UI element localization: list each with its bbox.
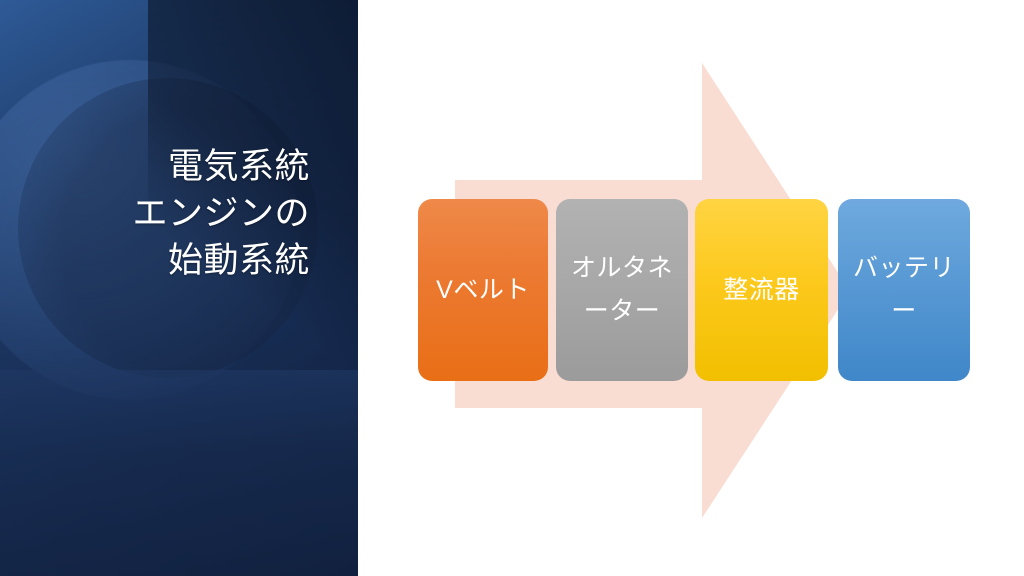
slide-title: 電気系統 エンジンの 始動系統 [50, 143, 310, 284]
stage-box-rectifier[interactable]: 整流器 [695, 199, 828, 381]
stage-box-alternator[interactable]: オルタネーター [556, 199, 688, 381]
stage-label-rectifier: 整流器 [701, 269, 822, 312]
presentation-slide: 電気系統 エンジンの 始動系統 Vベルト オルタネーター 整流器 バッテリー [0, 0, 1024, 576]
title-panel: 電気系統 エンジンの 始動系統 [0, 0, 358, 576]
stage-box-vbelt[interactable]: Vベルト [418, 199, 548, 381]
stage-label-vbelt: Vベルト [424, 269, 542, 312]
stage-label-battery: バッテリー [844, 247, 964, 333]
stage-label-alternator: オルタネーター [562, 247, 682, 333]
stage-box-battery[interactable]: バッテリー [838, 199, 970, 381]
decorative-lower-band [0, 370, 358, 576]
process-diagram: Vベルト オルタネーター 整流器 バッテリー [358, 0, 1024, 576]
